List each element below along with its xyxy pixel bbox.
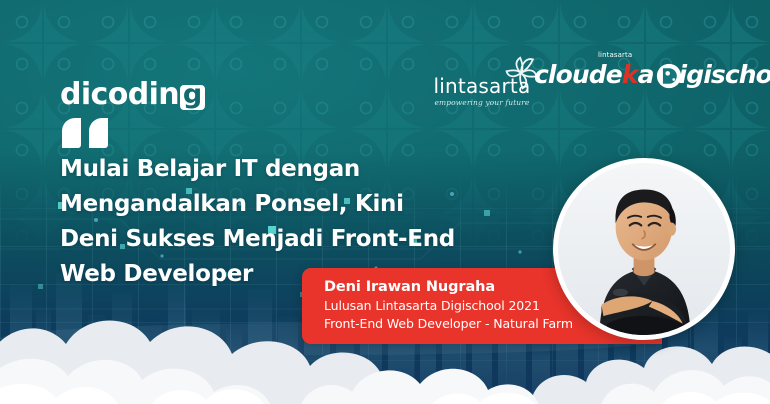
cloudeka-red-k: k bbox=[622, 60, 638, 89]
lintasarta-tagline: empowering your future bbox=[430, 98, 534, 107]
person-portrait-avatar bbox=[553, 158, 735, 340]
cloudeka-word-part1: cloude bbox=[534, 60, 622, 89]
digischool-wordmark: igischool bbox=[679, 62, 770, 87]
headline-line-2: Mengandalkan Ponsel, Kini bbox=[60, 187, 490, 222]
promo-banner: dicodin g lintasarta empowering your fut… bbox=[0, 0, 770, 404]
headline-line-3: Deni Sukses Menjadi Front-End bbox=[60, 222, 490, 257]
dicoding-wordmark: dicodin bbox=[60, 80, 179, 110]
cloudeka-wordmark: cloudeka bbox=[534, 60, 654, 89]
cloudeka-digischool-logo[interactable]: lintasarta cloudeka igischool bbox=[534, 62, 770, 88]
dicoding-logo[interactable]: dicodin g bbox=[60, 76, 205, 110]
lintasarta-logo[interactable]: lintasarta empowering your future bbox=[430, 58, 534, 107]
cloudeka-word-part2: a bbox=[638, 60, 654, 89]
cloudeka-superscript-label: lintasarta bbox=[598, 51, 632, 59]
digischool-d-icon bbox=[656, 63, 682, 89]
portrait-illustration bbox=[558, 163, 730, 335]
headline-line-1: Mulai Belajar IT dengan bbox=[60, 152, 490, 187]
double-quote-icon bbox=[62, 118, 108, 148]
dicoding-g-mark-icon: g bbox=[180, 85, 205, 110]
lintasarta-pinwheel-icon bbox=[504, 56, 538, 90]
